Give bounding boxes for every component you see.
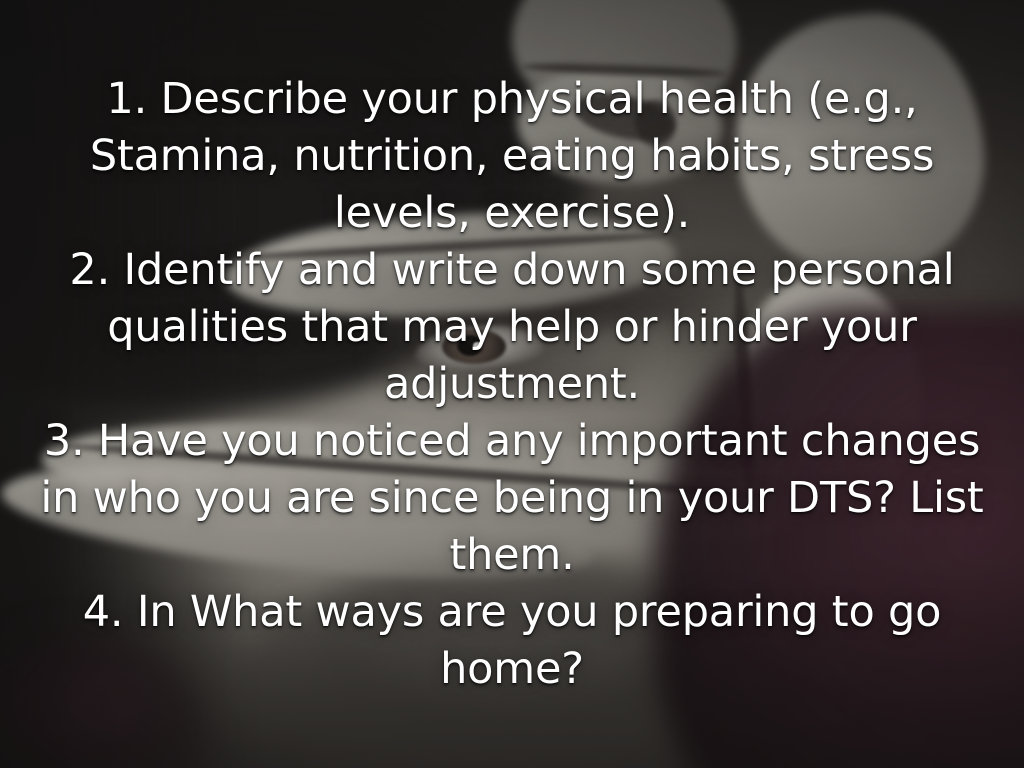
prompt-item-3: 3. Have you noticed any important change… [20,413,1004,584]
prompt-item-4: 4. In What ways are you preparing to go … [20,584,1004,698]
presentation-slide: 1. Describe your physical health (e.g., … [0,0,1024,768]
prompt-item-2: 2. Identify and write down some personal… [20,242,1004,413]
prompt-item-1: 1. Describe your physical health (e.g., … [20,71,1004,242]
prompt-list: 1. Describe your physical health (e.g., … [20,71,1004,698]
slide-text-overlay: 1. Describe your physical health (e.g., … [0,0,1024,768]
